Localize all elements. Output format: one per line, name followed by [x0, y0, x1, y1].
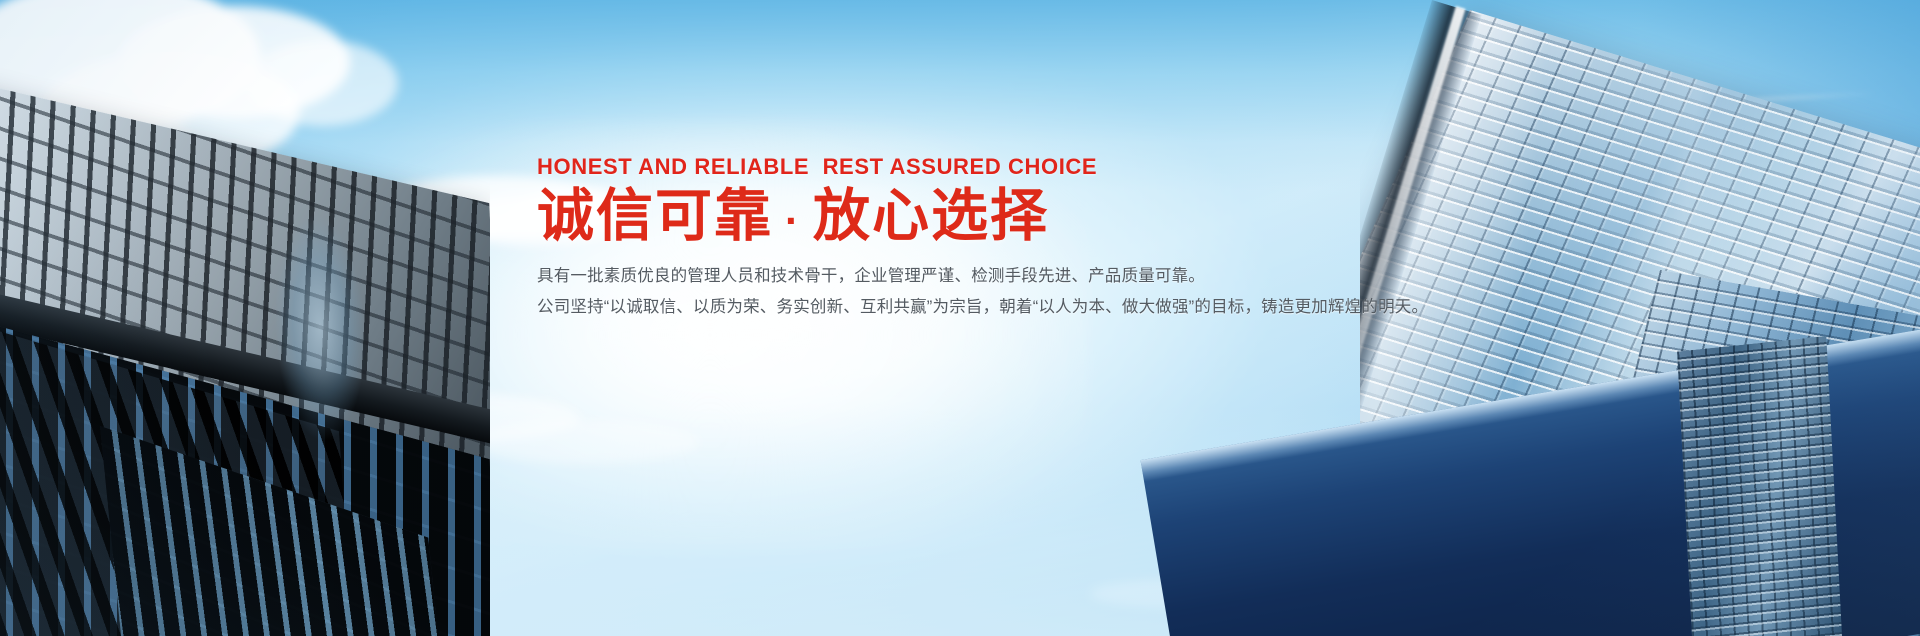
headline-separator-dot: ·: [773, 197, 813, 244]
page-title: 诚信可靠·放心选择: [537, 185, 1417, 249]
left-building-column-light: [260, 163, 380, 493]
english-tagline: HONEST AND RELIABLE REST ASSURED CHOICE: [537, 155, 1417, 179]
foreground-tower: [1677, 336, 1842, 636]
left-skyscraper-image: [0, 58, 490, 636]
hero-banner: HONEST AND RELIABLE REST ASSURED CHOICE …: [0, 0, 1920, 636]
banner-body-text: 具有一批素质优良的管理人员和技术骨干，企业管理严谨、检测手段先进、产品质量可靠。…: [537, 261, 1417, 322]
body-line-1: 具有一批素质优良的管理人员和技术骨干，企业管理严谨、检测手段先进、产品质量可靠。: [537, 261, 1417, 292]
headline-part-right: 放心选择: [813, 184, 1049, 248]
body-line-2: 公司坚持“以诚取信、以质为荣、务实创新、互利共赢”为宗旨，朝着“以人为本、做大做…: [537, 292, 1417, 323]
headline-part-left: 诚信可靠: [537, 184, 773, 248]
banner-copy-block: HONEST AND RELIABLE REST ASSURED CHOICE …: [537, 155, 1417, 322]
